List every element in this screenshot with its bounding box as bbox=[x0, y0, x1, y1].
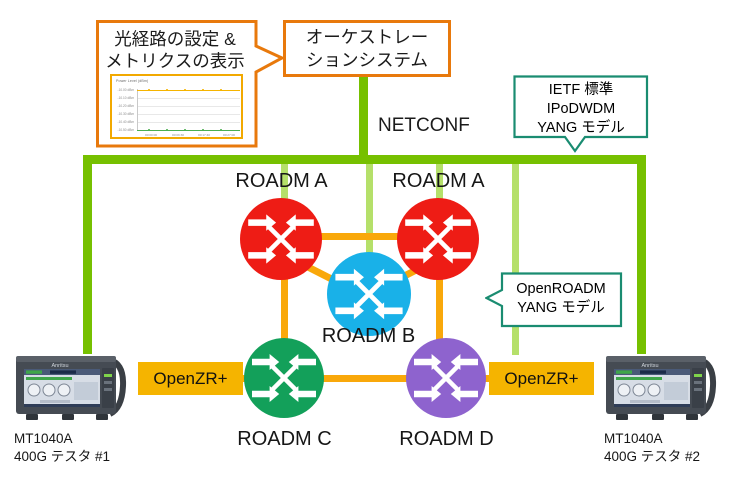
chart-xtick: 00:09:30 bbox=[167, 133, 189, 137]
chart-ytick: -10.20 dBm bbox=[116, 104, 134, 108]
ietf-callout-line2: IPoDWDM bbox=[513, 100, 649, 119]
chart-ytick: -10.00 dBm bbox=[116, 88, 134, 92]
openzr-badge-left[interactable]: OpenZR+ bbox=[138, 362, 243, 395]
metrics-callout-label: 光経路の設定 & メトリクスの表示 bbox=[96, 28, 254, 73]
openzr-badge-right-label: OpenZR+ bbox=[504, 369, 578, 389]
chart-xtick: 00:27:00 bbox=[218, 133, 240, 137]
diagram-canvas: オーケストレー ションシステム 光経路の設定 & メトリクスの表示 Power … bbox=[0, 0, 730, 491]
svg-text:Anritsu: Anritsu bbox=[641, 363, 658, 369]
netconf-bus-left-drop bbox=[83, 155, 92, 354]
chart-series-lower bbox=[137, 130, 240, 131]
node-label-roadm-a-right: ROADM A bbox=[366, 170, 511, 193]
node-label-roadm-c: ROADM C bbox=[212, 428, 357, 451]
metrics-callout[interactable]: 光経路の設定 & メトリクスの表示 Power Level (dBm) -10.… bbox=[96, 20, 291, 148]
node-roadm-d[interactable] bbox=[406, 338, 486, 418]
ietf-callout[interactable]: IETF 標準 IPoDWDM YANG モデル bbox=[513, 75, 649, 157]
router-icon bbox=[327, 252, 411, 336]
tester-device-icon: Anritsu bbox=[10, 348, 128, 426]
svg-text:Anritsu: Anritsu bbox=[51, 363, 68, 369]
openzr-badge-right[interactable]: OpenZR+ bbox=[489, 362, 594, 395]
openzr-badge-left-label: OpenZR+ bbox=[153, 369, 227, 389]
chart-ytick: -10.40 dBm bbox=[116, 120, 134, 124]
router-icon bbox=[244, 338, 324, 418]
tester-1[interactable]: Anritsu bbox=[10, 348, 128, 426]
chart-ytick: -10.30 dBm bbox=[116, 112, 134, 116]
ietf-callout-line3: YANG モデル bbox=[513, 119, 649, 138]
chart-ytick: -10.10 dBm bbox=[116, 96, 134, 100]
tester-device-icon: Anritsu bbox=[600, 348, 718, 426]
node-label-roadm-a-left: ROADM A bbox=[209, 170, 354, 193]
tester-1-caption: MT1040A 400G テスタ #1 bbox=[14, 430, 154, 466]
orchestration-system-box[interactable]: オーケストレー ションシステム bbox=[283, 20, 451, 77]
orchestration-system-label: オーケストレー ションシステム bbox=[306, 26, 429, 71]
openroadm-callout-line2: YANG モデル bbox=[502, 299, 620, 318]
chart-xtick: 00:00:00 bbox=[140, 133, 162, 137]
tester-2[interactable]: Anritsu bbox=[600, 348, 718, 426]
openroadm-callout[interactable]: OpenROADM YANG モデル bbox=[485, 272, 623, 328]
node-roadm-a-left[interactable] bbox=[240, 198, 322, 280]
tester-2-caption: MT1040A 400G テスタ #2 bbox=[604, 430, 730, 466]
power-level-chart-thumbnail[interactable]: Power Level (dBm) -10.00 dBm -10.10 dBm … bbox=[110, 74, 243, 139]
router-icon bbox=[240, 198, 322, 280]
netconf-label: NETCONF bbox=[378, 115, 470, 137]
node-label-roadm-d: ROADM D bbox=[374, 428, 519, 451]
openroadm-callout-line1: OpenROADM bbox=[502, 280, 620, 299]
chart-series-upper bbox=[137, 90, 240, 92]
ietf-callout-line1: IETF 標準 bbox=[513, 81, 649, 100]
node-roadm-c[interactable] bbox=[244, 338, 324, 418]
chart-title: Power Level (dBm) bbox=[116, 79, 148, 83]
netconf-bus-right-drop bbox=[637, 155, 646, 354]
chart-xtick: 00:17:40 bbox=[193, 133, 215, 137]
router-icon bbox=[406, 338, 486, 418]
chart-ytick: -10.50 dBm bbox=[116, 128, 134, 132]
node-roadm-b[interactable] bbox=[327, 252, 411, 336]
netconf-bus-riser bbox=[359, 76, 368, 160]
